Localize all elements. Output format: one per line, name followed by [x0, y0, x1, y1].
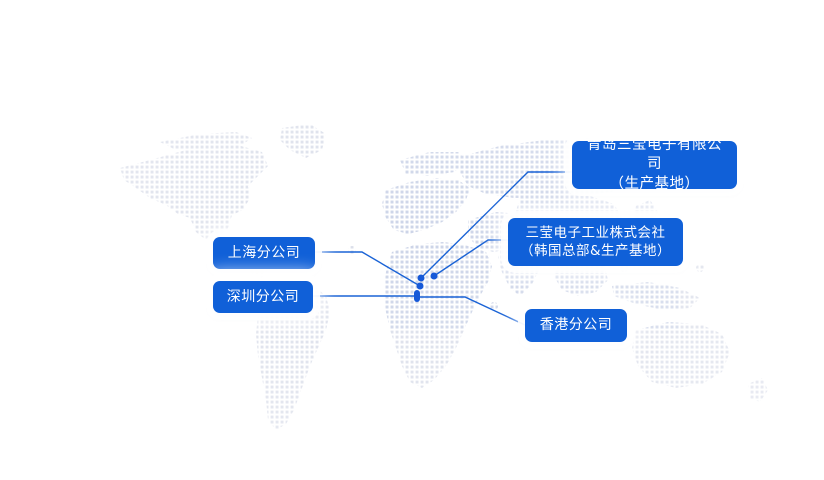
label-shanghai-text: 上海分公司 — [218, 244, 311, 263]
label-qingdao-text: 青岛三莹电子有限公司 （生产基地） — [572, 136, 737, 195]
label-shenzhen[interactable]: 深圳分公司 — [213, 281, 313, 313]
world-map-dots — [0, 0, 824, 480]
marker-pin-hongkong[interactable] — [414, 290, 420, 302]
map-canvas: 青岛三莹电子有限公司 （生产基地） 三莹电子工业株式会社 （韩国总部&生产基地）… — [0, 0, 824, 480]
label-hongkong-text: 香港分公司 — [530, 316, 623, 335]
label-qingdao[interactable]: 青岛三莹电子有限公司 （生产基地） — [572, 141, 737, 189]
world-map — [0, 0, 824, 480]
map-vignette — [0, 0, 824, 480]
marker-dot-korea[interactable] — [431, 273, 438, 280]
marker-dot-shanghai[interactable] — [417, 283, 424, 290]
label-korea-hq-text: 三莹电子工业株式会社 （韩国总部&生产基地） — [510, 224, 681, 260]
label-shenzhen-text: 深圳分公司 — [217, 288, 310, 307]
marker-dot-qingdao[interactable] — [418, 275, 425, 282]
label-hongkong[interactable]: 香港分公司 — [525, 309, 627, 342]
label-korea-hq[interactable]: 三莹电子工业株式会社 （韩国总部&生产基地） — [508, 218, 683, 266]
label-shanghai[interactable]: 上海分公司 — [213, 237, 315, 269]
